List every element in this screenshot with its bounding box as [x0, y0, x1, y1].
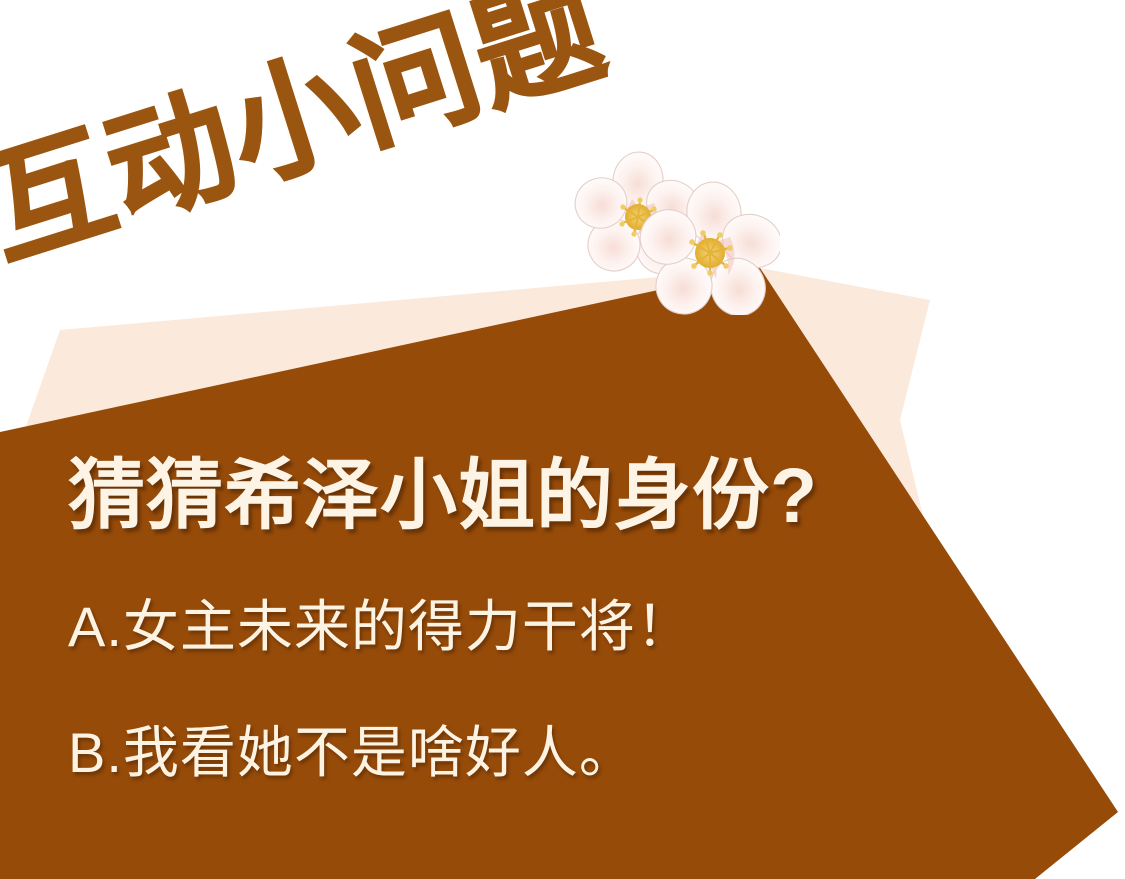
answer-option-b[interactable]: B.我看她不是啥好人。	[68, 722, 928, 784]
interactive-question-poster: 互动小问题	[0, 0, 1125, 879]
question-content: 猜猜希泽小姐的身份? A.女主未来的得力干将！ B.我看她不是啥好人。	[68, 455, 928, 783]
question-headline: 猜猜希泽小姐的身份?	[68, 455, 928, 538]
answer-option-a[interactable]: A.女主未来的得力干将！	[68, 596, 928, 658]
